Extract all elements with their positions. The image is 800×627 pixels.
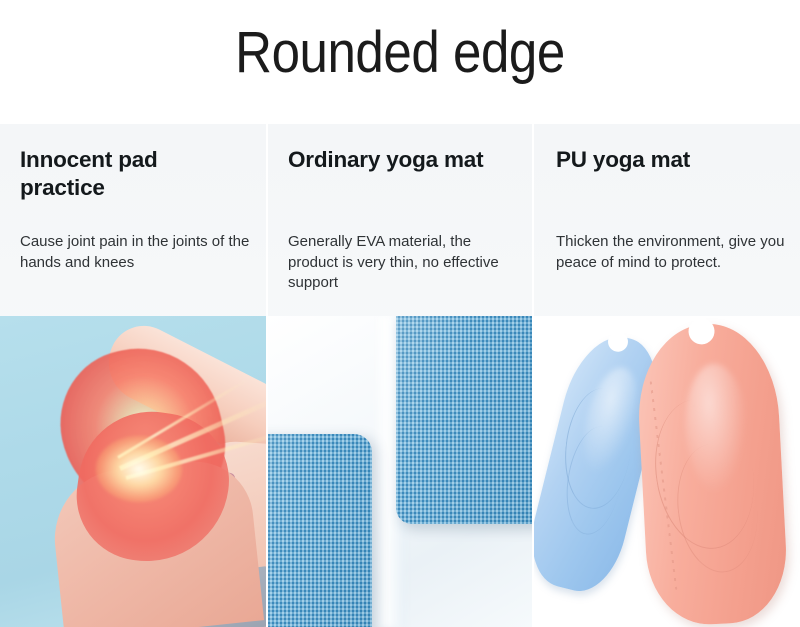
comparison-column-innocent-pad-practice: Innocent pad practice Cause joint pain i… bbox=[0, 124, 268, 627]
column-body-text: Generally EVA material, the product is v… bbox=[288, 232, 523, 294]
column-heading: Innocent pad practice bbox=[20, 146, 245, 202]
column-heading: Ordinary yoga mat bbox=[288, 146, 513, 174]
column-heading: PU yoga mat bbox=[556, 146, 781, 174]
comparison-infographic: Rounded edge Innocent pad practice Cause… bbox=[0, 0, 800, 627]
comparison-column-ordinary-yoga-mat: Ordinary yoga mat Generally EVA material… bbox=[268, 124, 534, 627]
joint-pain-photo bbox=[0, 316, 266, 627]
page-title: Rounded edge bbox=[48, 18, 752, 88]
ordinary-yoga-mat-photo bbox=[268, 316, 534, 627]
comparison-columns: Innocent pad practice Cause joint pain i… bbox=[0, 124, 800, 627]
column-body-text: Cause joint pain in the joints of the ha… bbox=[20, 232, 255, 273]
column-divider bbox=[532, 124, 534, 627]
column-divider bbox=[266, 124, 268, 627]
pain-glow-core bbox=[96, 436, 182, 502]
pu-yoga-mat-photo bbox=[534, 316, 800, 627]
column-body-text: Thicken the environment, give you peace … bbox=[556, 232, 791, 273]
yoga-mat-back bbox=[396, 316, 534, 524]
yoga-mat-front bbox=[268, 434, 372, 627]
comparison-column-pu-yoga-mat: PU yoga mat Thicken the environment, giv… bbox=[534, 124, 800, 627]
pu-pad-pink bbox=[634, 321, 790, 627]
